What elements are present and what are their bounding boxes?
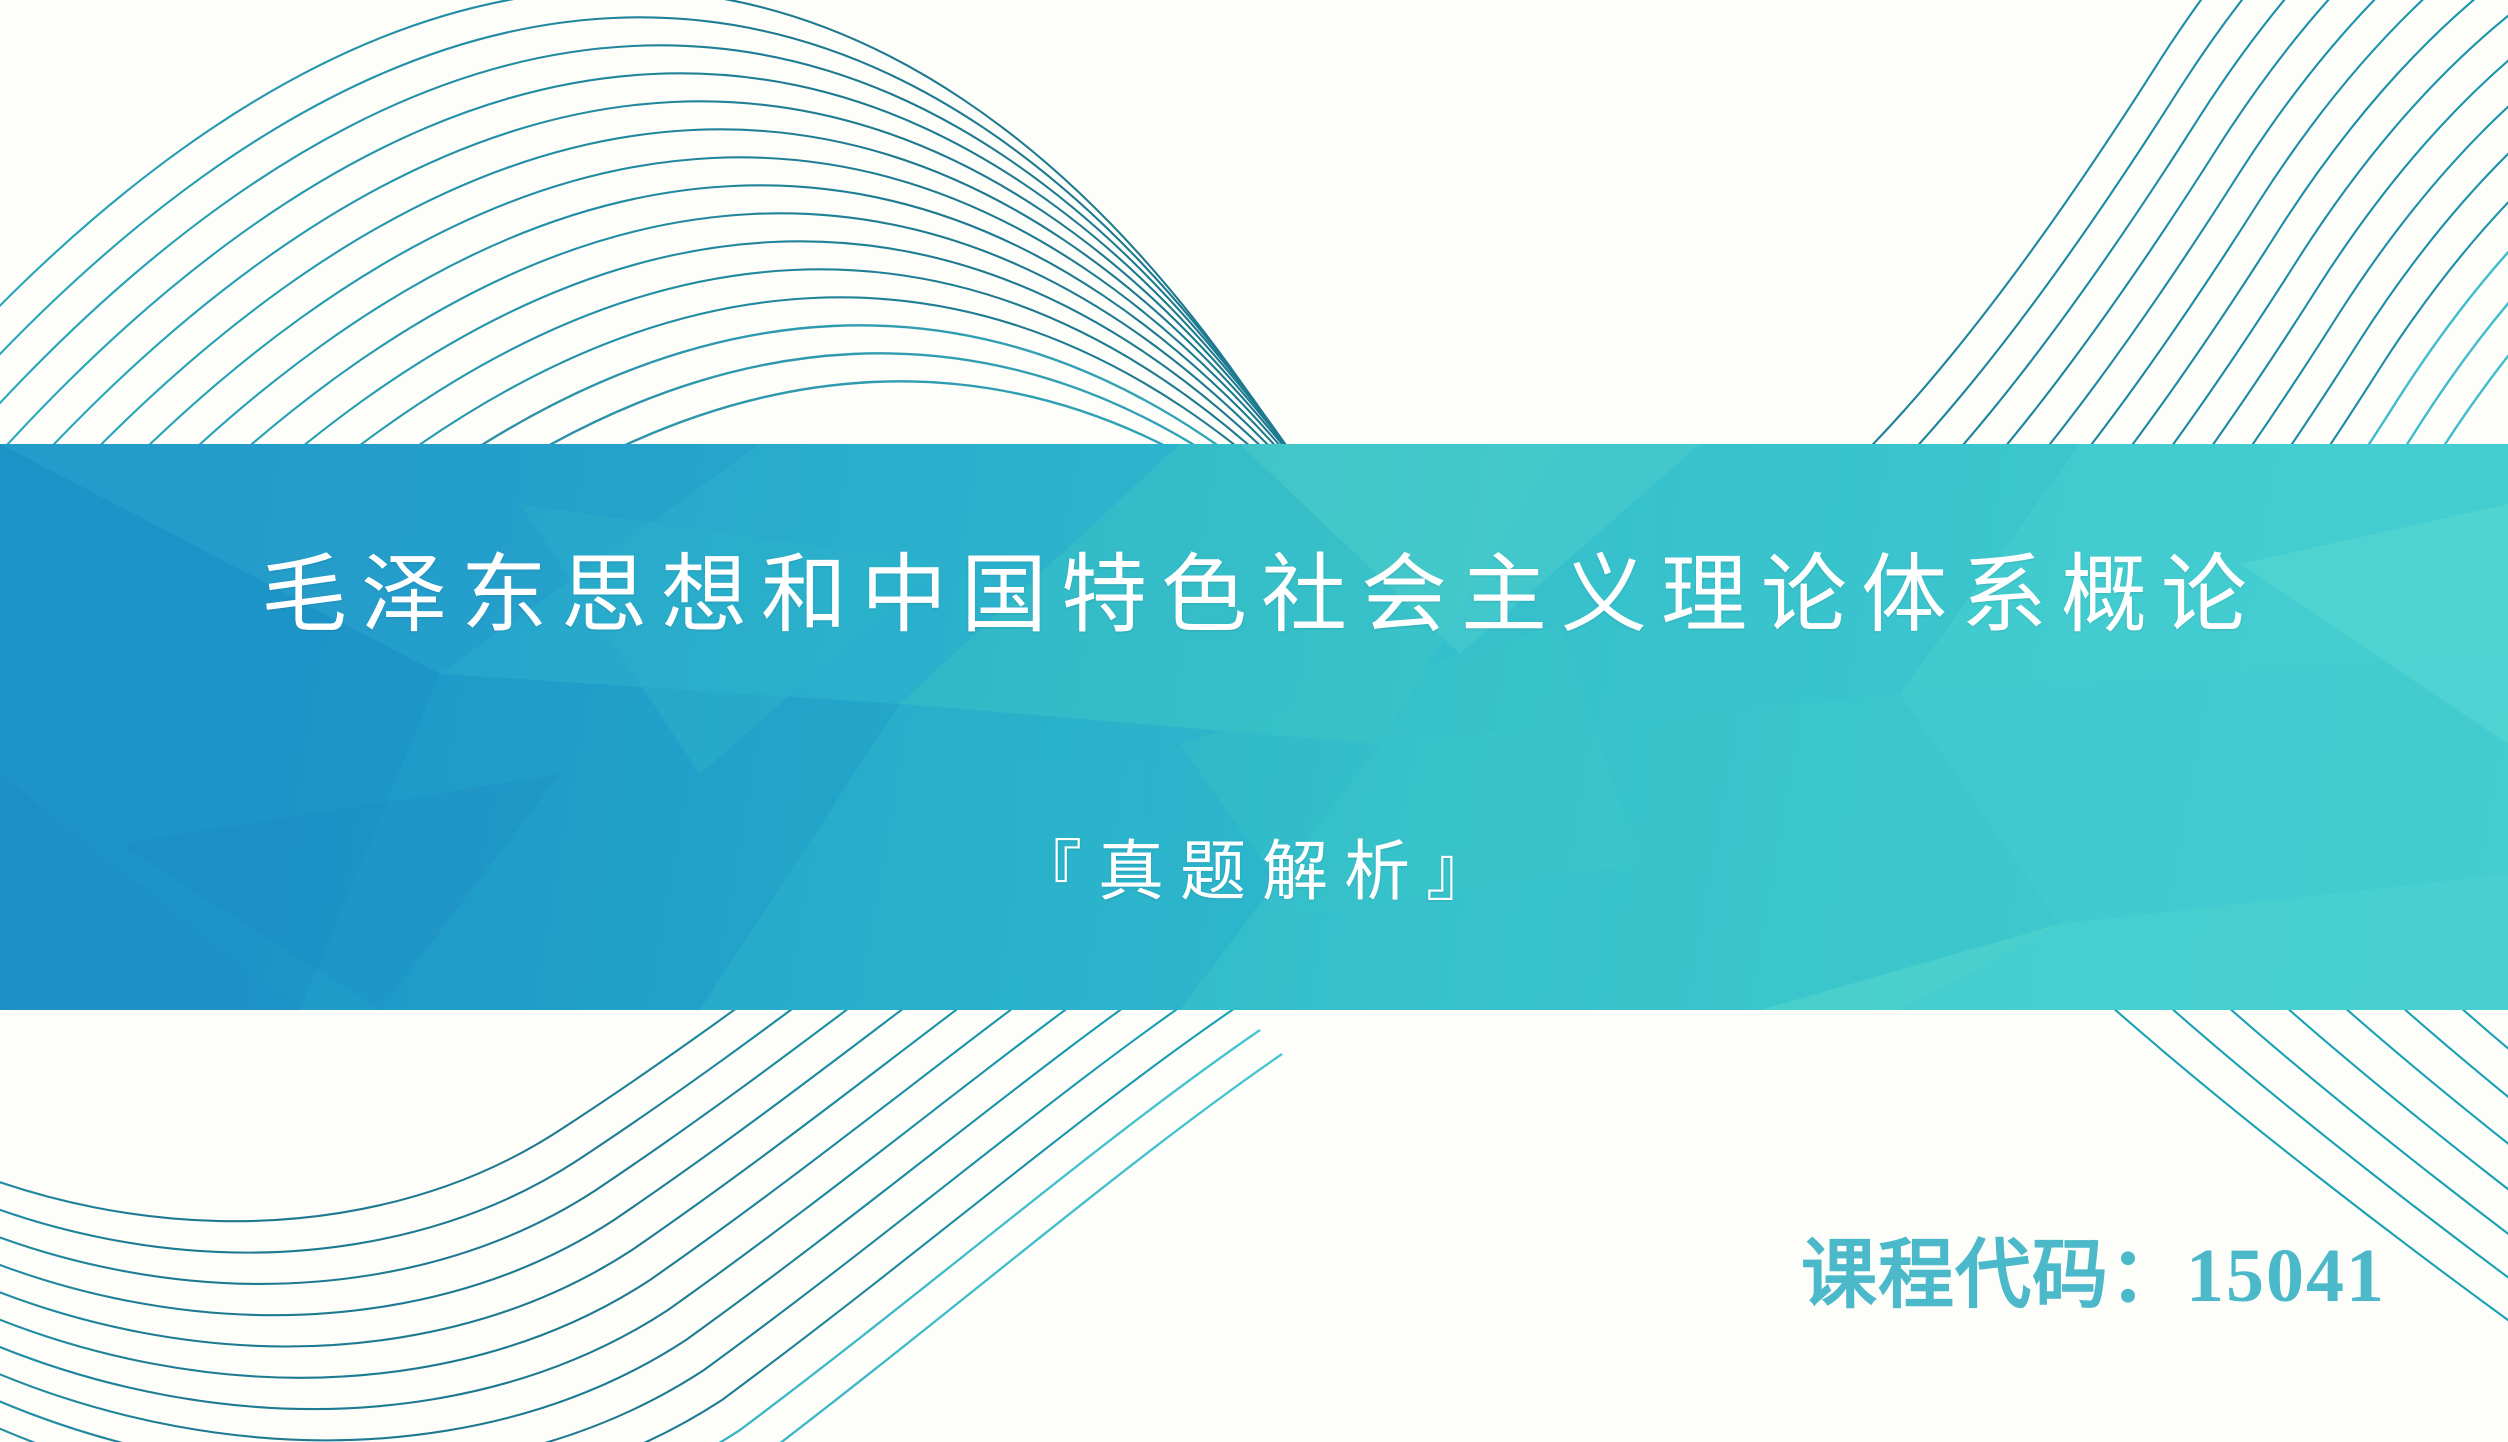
course-code: 课程代码：15041 bbox=[1801, 1238, 2386, 1314]
title-banner: 毛泽东思想和中国特色社会主义理论体系概论 『真题解析』 bbox=[0, 444, 2508, 1010]
slide-canvas: 毛泽东思想和中国特色社会主义理论体系概论 『真题解析』 课程代码：15041 bbox=[0, 0, 2508, 1442]
course-code-label: 课程代码： bbox=[1801, 1234, 2186, 1318]
course-code-value: 15041 bbox=[2186, 1234, 2386, 1318]
banner-content: 毛泽东思想和中国特色社会主义理论体系概论 『真题解析』 bbox=[0, 444, 2508, 1010]
page-subtitle: 『真题解析』 bbox=[0, 840, 2508, 906]
page-title: 毛泽东思想和中国特色社会主义理论体系概论 bbox=[0, 552, 2508, 638]
